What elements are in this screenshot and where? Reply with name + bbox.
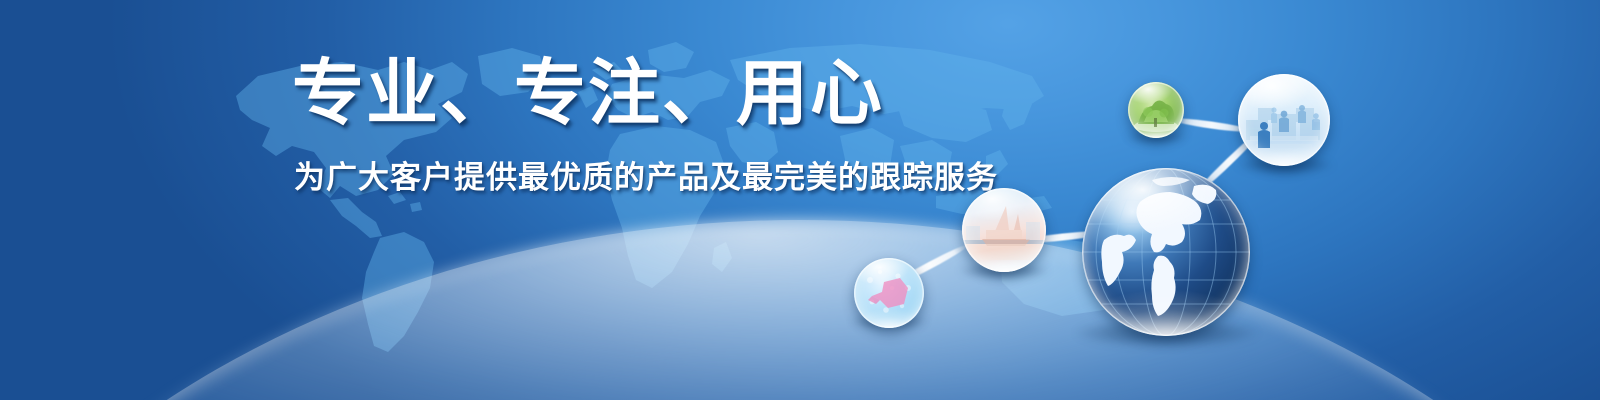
green-tree-icon — [1128, 82, 1184, 138]
nature-sphere[interactable] — [1128, 82, 1184, 138]
region-map-sphere[interactable] — [854, 258, 924, 328]
company-hero-banner: 专业、专注、用心 为广大客户提供最优质的产品及最完美的跟踪服务 — [0, 0, 1600, 400]
industry-sphere[interactable] — [962, 188, 1046, 272]
main-globe[interactable] — [1082, 168, 1250, 336]
pink-region-map-icon — [854, 258, 924, 328]
office-people-icon — [1238, 74, 1330, 166]
globe-continents — [1082, 168, 1250, 336]
sphere-network — [0, 0, 1600, 400]
business-sphere[interactable] — [1238, 74, 1330, 166]
harbor-ship-icon — [962, 188, 1046, 272]
